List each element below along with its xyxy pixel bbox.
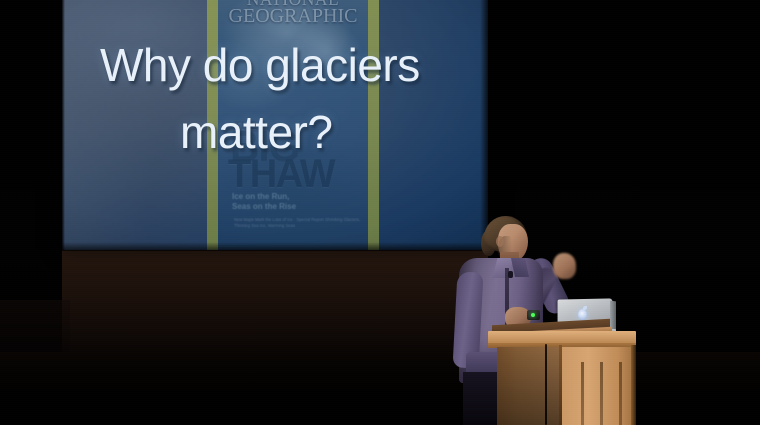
podium-left-face <box>497 347 560 425</box>
podium-panel-groove <box>619 362 622 425</box>
podium-right-edge <box>631 345 636 425</box>
podium <box>0 0 760 425</box>
presentation-scene: NATIONAL GEOGRAPHIC THE BIG THAW Ice on … <box>0 0 760 425</box>
podium-panel-groove <box>581 362 584 425</box>
podium-corner <box>559 345 562 425</box>
microphone-cable <box>545 344 547 425</box>
podium-panel-groove <box>600 362 603 425</box>
